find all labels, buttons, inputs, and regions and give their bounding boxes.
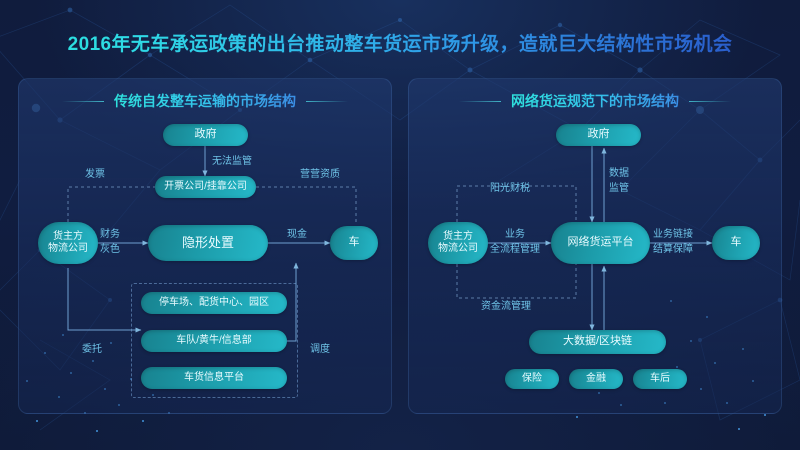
right-node-bigdata-blockchain[interactable]: 大数据/区块链: [529, 330, 666, 354]
header-rule-left: [62, 101, 104, 102]
left-label-finance-line1: 财务: [100, 228, 120, 243]
left-label-dispatch: 调度: [310, 343, 330, 357]
left-label-entrust: 委托: [82, 343, 102, 357]
left-node-shipper-line2: 物流公司: [48, 243, 88, 255]
right-node-shipper[interactable]: 货主方 物流公司: [428, 222, 488, 264]
right-node-service-2[interactable]: 车后: [633, 369, 687, 389]
slide-canvas: 2016年无车承运政策的出台推动整车货运市场升级，造就巨大结构性市场机会 传统自…: [0, 0, 800, 450]
left-node-group-0[interactable]: 停车场、配货中心、园区: [141, 292, 287, 314]
right-node-shipper-line1: 货主方: [443, 231, 473, 243]
header-rule-right: [306, 101, 348, 102]
right-label-data-supervision: 数据 监管: [609, 167, 629, 196]
right-node-service-0[interactable]: 保险: [505, 369, 559, 389]
right-node-shipper-line2: 物流公司: [438, 243, 478, 255]
left-node-group-2[interactable]: 车货信息平台: [141, 367, 287, 389]
right-label-chain: 业务链接 结算保障: [653, 228, 693, 257]
left-node-government[interactable]: 政府: [163, 124, 248, 146]
left-node-hidden-handling[interactable]: 隐形处置: [148, 225, 268, 261]
left-label-cash: 现金: [287, 228, 307, 242]
right-label-chain-line2: 结算保障: [653, 243, 693, 258]
left-node-invoice-company[interactable]: 开票公司/挂靠公司: [155, 176, 256, 198]
right-node-platform[interactable]: 网络货运平台: [551, 222, 650, 264]
page-title: 2016年无车承运政策的出台推动整车货运市场升级，造就巨大结构性市场机会: [0, 29, 800, 56]
right-panel-title: 网络货运规范下的市场结构: [511, 91, 679, 111]
left-node-shipper[interactable]: 货主方 物流公司: [38, 222, 98, 264]
right-node-service-1[interactable]: 金融: [569, 369, 623, 389]
left-label-no-supervision: 无法监管: [212, 155, 252, 169]
right-node-government[interactable]: 政府: [556, 124, 641, 146]
left-panel-header: 传统自发整车运输的市场结构: [19, 91, 391, 111]
left-label-finance: 财务 灰色: [100, 228, 120, 257]
left-node-group-1[interactable]: 车队/黄牛/信息部: [141, 330, 287, 352]
right-panel-header: 网络货运规范下的市场结构: [409, 91, 781, 111]
left-label-qualification: 营营资质: [300, 168, 340, 182]
right-label-sunshine-tax: 阳光财税: [490, 182, 530, 196]
header-rule-left-2: [459, 101, 501, 102]
header-rule-right-2: [689, 101, 731, 102]
left-label-finance-line2: 灰色: [100, 243, 120, 258]
left-node-truck[interactable]: 车: [330, 226, 378, 260]
left-node-shipper-line1: 货主方: [53, 231, 83, 243]
left-panel-title: 传统自发整车运输的市场结构: [114, 91, 296, 111]
right-label-fund-flow: 资金流管理: [481, 300, 531, 314]
right-label-business-line2: 全流程管理: [490, 243, 540, 258]
right-label-data-supervision-line2: 监管: [609, 182, 629, 197]
right-node-truck[interactable]: 车: [712, 226, 760, 260]
right-label-data-supervision-line1: 数据: [609, 167, 629, 182]
right-label-business: 业务 全流程管理: [490, 228, 540, 257]
right-label-business-line1: 业务: [490, 228, 540, 243]
right-label-chain-line1: 业务链接: [653, 228, 693, 243]
left-label-invoice: 发票: [85, 168, 105, 182]
